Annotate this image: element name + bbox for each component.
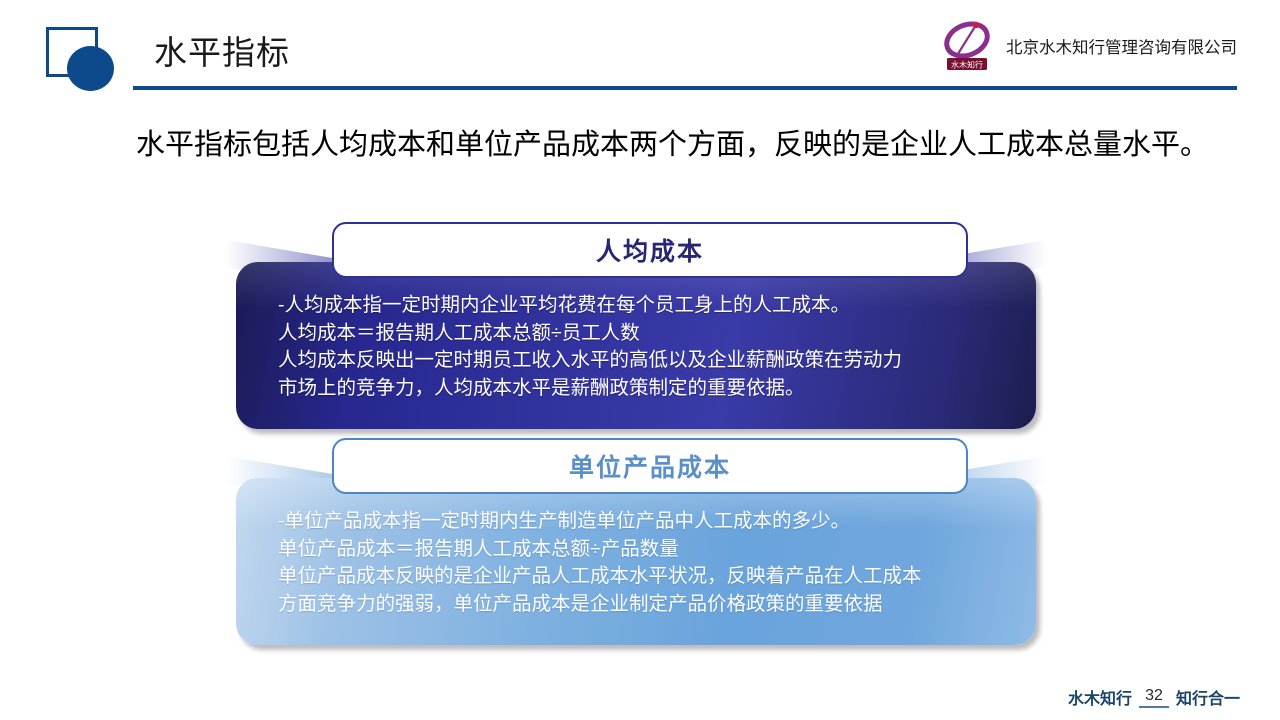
slide-header: 水平指标 水木知行 北京水木知行管理咨询有限公司	[0, 0, 1280, 100]
page-number-group: 32	[1137, 688, 1171, 710]
card-body: -单位产品成本指一定时期内生产制造单位产品中人工成本的多少。 单位产品成本＝报告…	[236, 478, 1036, 645]
company-logo-block: 水木知行 北京水木知行管理咨询有限公司	[936, 14, 1237, 78]
card-body: -人均成本指一定时期内企业平均花费在每个员工身上的人工成本。 人均成本＝报告期人…	[236, 262, 1036, 429]
page-number-underline	[1139, 706, 1169, 708]
card-body-text: -单位产品成本指一定时期内生产制造单位产品中人工成本的多少。 单位产品成本＝报告…	[278, 508, 1002, 619]
slide-footer: 水木知行 32 知行合一	[1068, 688, 1240, 710]
card-title: 人均成本	[596, 232, 704, 268]
square-circle-icon	[46, 27, 112, 89]
footer-brand-left: 水木知行	[1068, 692, 1132, 710]
card-title-box: 人均成本	[332, 222, 968, 278]
card-title: 单位产品成本	[569, 448, 731, 484]
intro-paragraph: 水平指标包括人均成本和单位产品成本两个方面，反映的是企业人工成本总量水平。	[78, 124, 1218, 166]
shuimu-zhixing-logo-icon: 水木知行	[936, 15, 998, 77]
header-circle-shape	[67, 46, 114, 91]
header-divider	[133, 86, 1237, 90]
page-title: 水平指标	[154, 26, 290, 74]
card-title-box: 单位产品成本	[332, 438, 968, 494]
page-number: 32	[1145, 688, 1163, 705]
company-name-label: 北京水木知行管理咨询有限公司	[1006, 34, 1237, 58]
footer-brand-right: 知行合一	[1176, 692, 1240, 710]
card-body-text: -人均成本指一定时期内企业平均花费在每个员工身上的人工成本。 人均成本＝报告期人…	[278, 292, 1002, 403]
svg-text:水木知行: 水木知行	[951, 59, 983, 69]
